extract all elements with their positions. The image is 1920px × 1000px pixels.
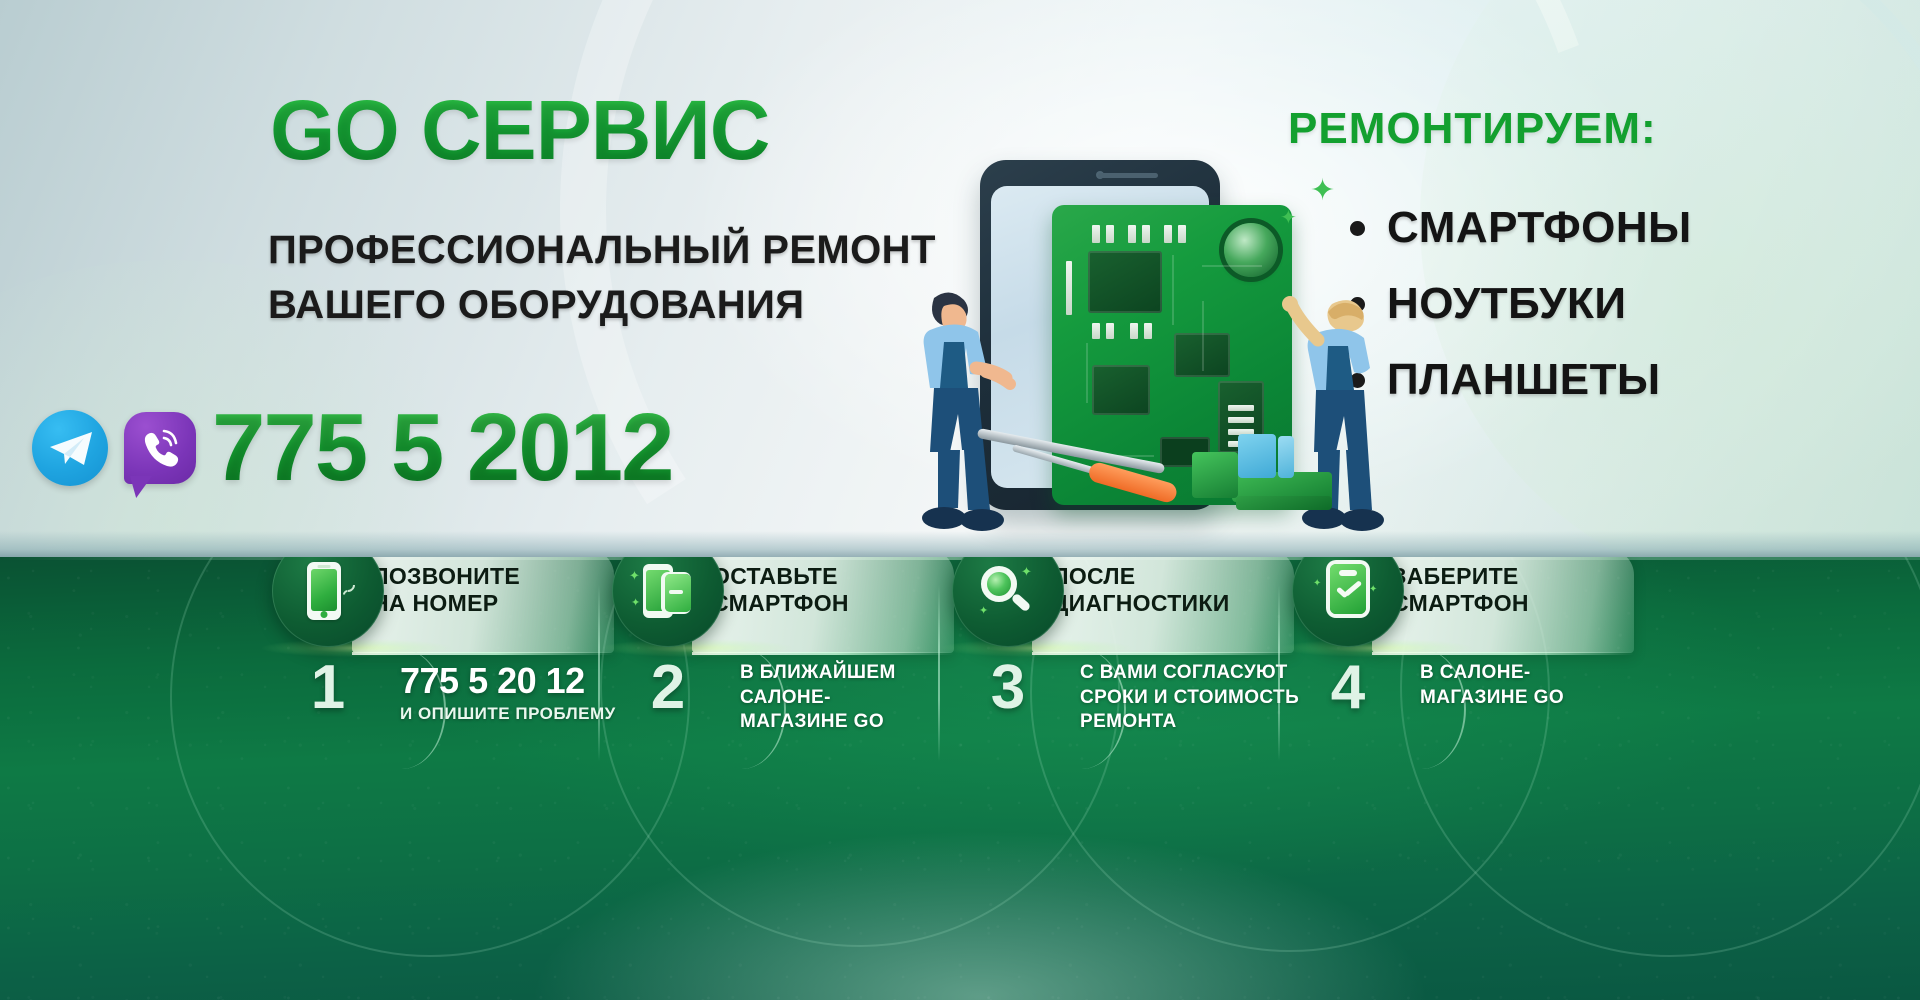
step-heading: ОСТАВЬТЕ СМАРТФОН	[712, 563, 942, 617]
step-heading: ЗАБЕРИТЕ СМАРТФОН	[1392, 563, 1622, 617]
step-lines: В БЛИЖАЙШЕМ САЛОНЕ- МАГАЗИНЕ GO	[740, 661, 970, 735]
step-heading-line1: ПОСЛЕ	[1052, 563, 1282, 590]
sparkle-icon: ✦	[1310, 176, 1335, 206]
step-line: В САЛОНЕ-	[1420, 661, 1650, 686]
step-heading-line2: ДИАГНОСТИКИ	[1052, 590, 1282, 617]
step-line: СРОКИ И СТОИМОСТЬ	[1080, 686, 1310, 711]
step-note: И ОПИШИТЕ ПРОБЛЕМУ	[400, 704, 630, 724]
step-line: МАГАЗИНЕ GO	[740, 710, 970, 735]
step-heading-line2: СМАРТФОН	[712, 590, 942, 617]
phone-number[interactable]: 775 5 2012	[212, 400, 672, 496]
step-number: 3	[952, 657, 1064, 719]
step-line: МАГАЗИНЕ GO	[1420, 686, 1650, 711]
brand-subtitle-line2: ВАШЕГО ОБОРУДОВАНИЯ	[268, 283, 804, 328]
step-glow	[262, 639, 452, 657]
steps-band: ПОЗВОНИТЕ НА НОМЕР 1 775 5 20 12	[0, 557, 1920, 1000]
step-heading: ПОЗВОНИТЕ НА НОМЕР	[372, 563, 602, 617]
technician-left-graphic	[890, 280, 1020, 550]
telegram-glyph	[48, 430, 94, 468]
service-label: ПЛАНШЕТЫ	[1387, 355, 1661, 405]
viber-icon[interactable]	[124, 412, 196, 484]
service-label: СМАРТФОНЫ	[1387, 203, 1692, 253]
repair-illustration: ✦ ✦	[880, 150, 1400, 557]
step-line: РЕМОНТА	[1080, 710, 1310, 735]
step-glow	[1282, 639, 1472, 657]
contact-row: 775 5 2012	[32, 400, 672, 496]
step-divider	[1278, 585, 1280, 761]
services-title: РЕМОНТИРУЕМ:	[1288, 104, 1657, 154]
camera-lens-icon	[1224, 223, 1278, 277]
step-phone-number[interactable]: 775 5 20 12	[400, 661, 630, 701]
signal-wave-icon	[339, 576, 361, 606]
step-glow	[602, 639, 792, 657]
step-body: С ВАМИ СОГЛАСУЮТ СРОКИ И СТОИМОСТЬ РЕМОН…	[1080, 661, 1310, 735]
step-heading: ПОСЛЕ ДИАГНОСТИКИ	[1052, 563, 1282, 617]
step-body: В БЛИЖАЙШЕМ САЛОНЕ- МАГАЗИНЕ GO	[740, 661, 970, 735]
step-divider	[598, 585, 600, 761]
step-heading-line1: ЗАБЕРИТЕ	[1392, 563, 1622, 590]
step-number: 4	[1292, 657, 1404, 719]
step-line: САЛОНЕ-	[740, 686, 970, 711]
list-item: СМАРТФОНЫ	[1350, 190, 1692, 266]
steps-list: ПОЗВОНИТЕ НА НОМЕР 1 775 5 20 12	[0, 557, 1920, 1000]
step-divider	[938, 585, 940, 761]
step-body: 775 5 20 12 И ОПИШИТЕ ПРОБЛЕМУ	[400, 661, 630, 724]
step-number: 2	[612, 657, 724, 719]
sparkle-icon: ✦	[1280, 208, 1297, 228]
tablet-speaker-icon	[1098, 173, 1158, 178]
step-heading-line1: ПОЗВОНИТЕ	[372, 563, 602, 590]
service-banner: GO СЕРВИС ПРОФЕССИОНАЛЬНЫЙ РЕМОНТ ВАШЕГО…	[0, 0, 1920, 1000]
step-heading-line2: НА НОМЕР	[372, 590, 602, 617]
step-number: 1	[272, 657, 384, 719]
step-body: В САЛОНЕ- МАГАЗИНЕ GO	[1420, 661, 1650, 710]
step-lines: С ВАМИ СОГЛАСУЮТ СРОКИ И СТОИМОСТЬ РЕМОН…	[1080, 661, 1310, 735]
step-heading-line1: ОСТАВЬТЕ	[712, 563, 942, 590]
telegram-icon[interactable]	[32, 410, 108, 486]
step-line: С ВАМИ СОГЛАСУЮТ	[1080, 661, 1310, 686]
brand-subtitle-line1: ПРОФЕССИОНАЛЬНЫЙ РЕМОНТ	[268, 228, 936, 273]
step-glow	[942, 639, 1132, 657]
brand-headline: GO СЕРВИС	[270, 88, 769, 172]
step-line: В БЛИЖАЙШЕМ	[740, 661, 970, 686]
step-heading-line2: СМАРТФОН	[1392, 590, 1622, 617]
service-label: НОУТБУКИ	[1387, 279, 1627, 329]
step-lines: В САЛОНЕ- МАГАЗИНЕ GO	[1420, 661, 1650, 710]
viber-glyph	[138, 425, 182, 469]
